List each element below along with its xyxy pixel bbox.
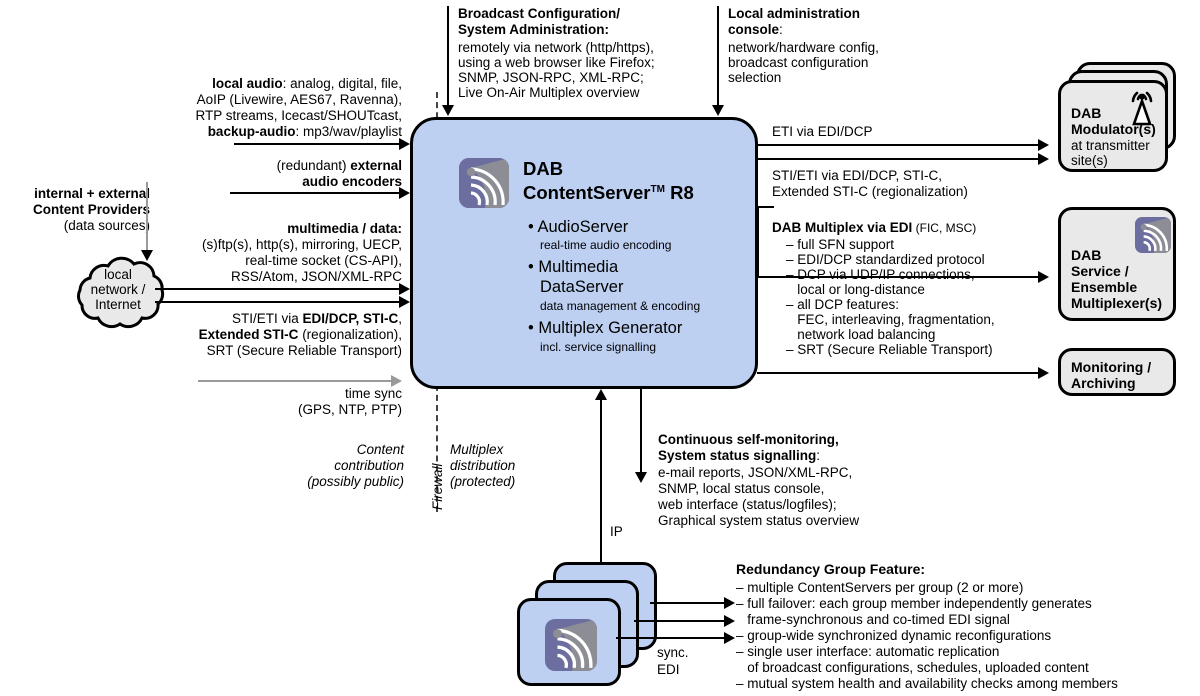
- sti-in-ext-bold: Extended STI-C: [199, 327, 299, 342]
- local-audio-bold: local audio: [212, 76, 283, 91]
- sync-edi-arrow-head-2: [724, 615, 735, 627]
- sync-edi-arrow-head-3: [724, 632, 735, 644]
- monitoring-line-2: Archiving: [1071, 375, 1136, 391]
- center-title-name: ContentServer: [523, 182, 650, 203]
- distribution-line-3: (protected): [450, 474, 515, 490]
- multimedia-line-0: (s)ftp(s), http(s), mirroring, UECP,: [130, 237, 402, 253]
- module-0-name: • AudioServer: [528, 218, 628, 237]
- sync-edi-arrow-line-3: [616, 637, 730, 639]
- sti-in-tail: ,: [398, 311, 402, 326]
- ip-arrow-line: [600, 395, 602, 575]
- local-admin-line-2: selection: [728, 70, 781, 86]
- sync-edi-line-2: EDI: [657, 662, 680, 678]
- module-0-label: AudioServer: [537, 218, 628, 236]
- encoders-arrow-line: [230, 192, 404, 194]
- sti-in-plain: STI/ETI via: [232, 311, 303, 326]
- multiplex-edi-item-7: – SRT (Secure Reliable Transport): [786, 342, 993, 358]
- local-admin-arrow-line: [717, 6, 719, 106]
- redundancy-item-5: of broadcast configurations, schedules, …: [736, 660, 1089, 676]
- redundancy-item-4: – single user interface: automatic repli…: [736, 644, 999, 660]
- multiplex-edi-heading-bold: DAB Multiplex via EDI: [772, 220, 912, 235]
- sync-edi-line-1: sync.: [657, 645, 689, 661]
- local-audio-rest: : analog, digital, file,: [283, 76, 402, 91]
- selfmon-line-3: Graphical system status overview: [658, 513, 859, 529]
- multiplexer-line-3: Ensemble: [1071, 279, 1137, 295]
- broadcast-config-heading-2: System Administration:: [458, 22, 609, 38]
- module-2-name: • Multiplex Generator: [528, 319, 682, 338]
- multiplex-edi-item-5: FEC, interleaving, fragmentation,: [786, 312, 995, 328]
- selfmon-heading-2-text: System status signalling: [658, 448, 816, 463]
- redundancy-dab-logo-icon: [545, 619, 597, 671]
- monitoring-arrow-head: [1038, 367, 1049, 379]
- dab-contentserver-logo: [459, 158, 509, 208]
- encoders-plain: (redundant): [277, 158, 351, 173]
- firewall-label: Firewall: [430, 463, 445, 510]
- multimedia-heading: multimedia / data:: [130, 221, 402, 237]
- encoders-line-1: (redundant) external: [100, 158, 402, 174]
- modulator-box: DAB Modulator(s) at transmitter site(s): [1058, 80, 1168, 172]
- multimedia-line-1: real-time socket (CS-API),: [130, 253, 402, 269]
- providers-line-2: Content Providers: [0, 202, 150, 218]
- local-admin-heading-2-colon: :: [779, 22, 783, 37]
- ip-label: IP: [610, 524, 623, 540]
- multiplexer-line-1: DAB: [1071, 247, 1101, 263]
- selfmon-line-0: e-mail reports, JSON/XML-RPC,: [658, 465, 852, 481]
- local-audio-line-2: AoIP (Livewire, AES67, Ravenna),: [100, 92, 402, 108]
- sti-out-line-1: STI/ETI via EDI/DCP, STI-C,: [772, 168, 942, 184]
- distribution-line-1: Multiplex: [450, 442, 503, 458]
- selfmon-arrow-head: [635, 472, 647, 483]
- selfmon-arrow-line: [640, 389, 642, 475]
- sti-in-ext-plain: (regionalization),: [298, 327, 402, 342]
- broadcast-config-arrow-head: [442, 105, 454, 116]
- sti-in-arrow-line: [155, 301, 404, 303]
- redundancy-box-1: [517, 598, 621, 686]
- diagram-canvas: Firewall Broadcast Configuration/ System…: [0, 0, 1200, 696]
- sti-in-line-3: SRT (Secure Reliable Transport): [130, 343, 402, 359]
- multiplexer-line-2: Service /: [1071, 263, 1129, 279]
- local-admin-heading-2: console:: [728, 22, 783, 38]
- broadcast-config-line-0: remotely via network (http/https),: [458, 40, 654, 56]
- selfmon-line-2: web interface (status/logfiles);: [658, 497, 837, 513]
- module-2-label: Multiplex Generator: [538, 319, 682, 337]
- module-1-label: Multimedia: [538, 258, 618, 276]
- eti-arrow-head: [1038, 139, 1049, 151]
- redundancy-item-1: – full failover: each group member indep…: [736, 596, 1092, 612]
- sync-edi-arrow-line-1: [650, 602, 730, 604]
- monitoring-box: Monitoring / Archiving: [1058, 348, 1176, 396]
- contribution-line-3: (possibly public): [230, 474, 404, 490]
- center-title-rev: R8: [670, 182, 694, 203]
- providers-line-3: (data sources): [0, 218, 150, 234]
- redundancy-item-2: frame-synchronous and co-timed EDI signa…: [736, 612, 1010, 628]
- contribution-line-2: contribution: [230, 458, 404, 474]
- dab-logo-icon: [1135, 217, 1171, 253]
- sti-out-arrow-line: [757, 158, 1044, 160]
- sti-in-line-1: STI/ETI via EDI/DCP, STI-C,: [130, 311, 402, 327]
- eti-label: ETI via EDI/DCP: [772, 124, 873, 140]
- multimedia-arrow-head: [399, 283, 410, 295]
- multimedia-arrow-line: [155, 288, 404, 290]
- broadcast-config-line-2: SNMP, JSON-RPC, XML-RPC;: [458, 70, 644, 86]
- broadcast-config-line-3: Live On-Air Multiplex overview: [458, 85, 640, 101]
- multiplex-edi-item-0: – full SFN support: [786, 237, 894, 253]
- local-admin-line-0: network/hardware config,: [728, 40, 879, 56]
- multiplex-edi-item-2: – DCP via UDP/IP connections,: [786, 267, 975, 283]
- multiplex-edi-heading: DAB Multiplex via EDI (FIC, MSC): [772, 220, 976, 236]
- local-audio-line-3: RTP streams, Icecast/SHOUTcast,: [100, 108, 402, 124]
- local-admin-arrow-head: [712, 105, 724, 116]
- multiplex-edi-item-6: network load balancing: [786, 327, 935, 343]
- local-admin-line-1: broadcast configuration: [728, 55, 868, 71]
- sync-edi-arrow-head-1: [724, 597, 735, 609]
- sti-in-bold: EDI/DCP, STI-C: [302, 311, 398, 326]
- redundancy-item-0: – multiple ContentServers per group (2 o…: [736, 580, 1023, 596]
- multiplexer-arrow-line-v: [757, 206, 759, 278]
- encoders-arrow-head: [399, 187, 410, 199]
- local-admin-heading-2-text: console: [728, 22, 779, 37]
- providers-line-1: internal + external: [0, 186, 150, 202]
- module-2-desc: incl. service signalling: [540, 340, 656, 354]
- sti-out-line-2: Extended STI-C (regionalization): [772, 184, 968, 200]
- multiplexer-arrow-line-h2: [757, 276, 1044, 278]
- local-audio-line-1: local audio: analog, digital, file,: [100, 76, 402, 92]
- broadcast-config-line-1: using a web browser like Firefox;: [458, 55, 655, 71]
- modulator-line-4: site(s): [1071, 153, 1108, 168]
- local-admin-heading-1: Local administration: [728, 6, 860, 22]
- selfmon-line-1: SNMP, local status console,: [658, 481, 824, 497]
- time-sync-line-1: time sync: [150, 386, 402, 402]
- sync-edi-arrow-line-2: [634, 620, 730, 622]
- multiplex-edi-item-3: local or long-distance: [786, 282, 925, 298]
- multiplexer-arrow-head: [1038, 271, 1049, 283]
- time-sync-line-2: (GPS, NTP, PTP): [150, 402, 402, 418]
- multiplexer-box: DAB Service / Ensemble Multiplexer(s): [1058, 207, 1176, 321]
- modulator-line-2: Modulator(s): [1071, 121, 1156, 137]
- broadcast-config-heading-1: Broadcast Configuration/: [458, 6, 620, 22]
- multiplexer-line-4: Multiplexer(s): [1071, 295, 1162, 311]
- sti-in-line-2: Extended STI-C (regionalization),: [130, 327, 402, 343]
- center-title-tm: TM: [650, 184, 664, 195]
- eti-arrow-line: [757, 144, 1044, 146]
- backup-audio-rest: : mp3/wav/playlist: [295, 124, 402, 139]
- encoders-bold: external: [350, 158, 402, 173]
- sti-out-arrow-head: [1038, 153, 1049, 165]
- multiplex-edi-item-1: – EDI/DCP standardized protocol: [786, 252, 985, 268]
- contribution-line-1: Content: [230, 442, 404, 458]
- backup-audio-bold: backup-audio: [208, 124, 296, 139]
- module-1-desc: data management & encoding: [540, 299, 700, 313]
- local-audio-line-4: backup-audio: mp3/wav/playlist: [100, 124, 402, 140]
- distribution-line-2: distribution: [450, 458, 515, 474]
- monitoring-line-1: Monitoring /: [1071, 359, 1151, 375]
- module-1-name2: DataServer: [540, 278, 623, 297]
- module-1-name: • Multimedia: [528, 258, 618, 277]
- local-audio-arrow-head: [399, 138, 410, 150]
- multiplex-edi-heading-rest: (FIC, MSC): [912, 221, 976, 235]
- modulator-line-3: at transmitter: [1071, 138, 1150, 153]
- broadcast-config-arrow-line: [447, 6, 449, 106]
- redundancy-heading: Redundancy Group Feature:: [736, 562, 925, 578]
- selfmon-heading-2: System status signalling:: [658, 448, 820, 464]
- modulator-line-1: DAB: [1071, 105, 1101, 121]
- center-title-line2: ContentServerTM R8: [523, 179, 694, 203]
- time-sync-arrow-line: [198, 380, 394, 382]
- sti-in-arrow-head: [399, 296, 410, 308]
- redundancy-item-3: – group-wide synchronized dynamic reconf…: [736, 628, 1051, 644]
- multiplexer-arrow-line-h1: [757, 206, 774, 208]
- module-0-desc: real-time audio encoding: [540, 238, 671, 252]
- multimedia-line-2: RSS/Atom, JSON/XML-RPC: [130, 269, 402, 285]
- selfmon-heading-1: Continuous self-monitoring,: [658, 432, 839, 448]
- multiplex-edi-item-4: – all DCP features:: [786, 297, 899, 313]
- selfmon-heading-2-colon: :: [816, 448, 820, 463]
- redundancy-item-6: – mutual system health and availability …: [736, 676, 1118, 692]
- ip-arrow-head-up: [595, 389, 607, 400]
- local-audio-arrow-line: [234, 143, 404, 145]
- monitoring-arrow-line: [757, 372, 1044, 374]
- center-title-line1: DAB: [523, 158, 563, 179]
